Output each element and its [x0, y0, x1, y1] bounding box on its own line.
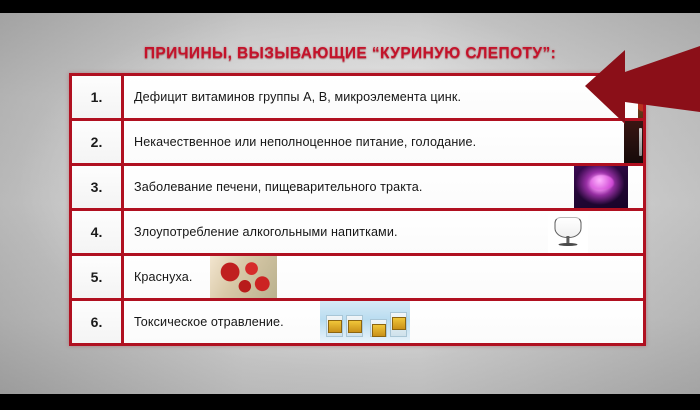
row-number: 5. — [72, 256, 124, 298]
row-content: Заболевание печени, пищеварительного тра… — [124, 166, 643, 208]
row-label: Заболевание печени, пищеварительного тра… — [134, 180, 422, 194]
row-content: Дефицит витаминов группы А, В, микроэлем… — [124, 76, 643, 118]
row-content: Некачественное или неполноценное питание… — [124, 121, 643, 163]
row-number: 2. — [72, 121, 124, 163]
liver-scan-photo — [574, 166, 628, 208]
liver-shape — [590, 175, 614, 189]
table-row: 2. Некачественное или неполноценное пита… — [72, 121, 643, 166]
row-content: Токсическое отравление. — [124, 301, 643, 343]
row-label: Злоупотребление алкогольными напитками. — [134, 225, 398, 239]
table-row: 6. Токсическое отравление. — [72, 301, 643, 343]
causes-table: 1. Дефицит витаминов группы А, В, микроэ… — [69, 73, 646, 346]
table-row: 4. Злоупотребление алкогольными напиткам… — [72, 211, 643, 256]
row-label: Дефицит витаминов группы А, В, микроэлем… — [134, 90, 461, 104]
red-left-arrow-icon — [585, 46, 700, 124]
row-number: 6. — [72, 301, 124, 343]
bottle-icon — [370, 319, 387, 337]
row-number: 1. — [72, 76, 124, 118]
letterbox-bottom — [0, 394, 700, 410]
table-row: 1. Дефицит витаминов группы А, В, микроэ… — [72, 76, 643, 121]
row-label: Токсическое отравление. — [134, 315, 284, 329]
row-number: 4. — [72, 211, 124, 253]
row-content: Краснуха. — [124, 256, 643, 298]
letterbox-top — [0, 0, 700, 13]
empty-plate-photo — [624, 121, 643, 163]
fork-icon — [639, 128, 642, 156]
row-content: Злоупотребление алкогольными напитками. — [124, 211, 643, 253]
row-number: 3. — [72, 166, 124, 208]
bottle-icon — [390, 312, 407, 337]
row-label: Краснуха. — [134, 270, 192, 284]
table-row: 5. Краснуха. — [72, 256, 643, 301]
rubella-virus-photo — [210, 256, 277, 298]
glass-foot — [559, 243, 578, 246]
brandy-glass-photo — [548, 211, 588, 253]
bottle-icon — [326, 315, 343, 337]
table-row: 3. Заболевание печени, пищеварительного … — [72, 166, 643, 211]
chemical-bottles-photo — [320, 301, 410, 343]
bottle-icon — [346, 315, 363, 337]
slide-screenshot: ПРИЧИНЫ, ВЫЗЫВАЮЩИЕ “КУРИНУЮ СЛЕПОТУ”: 1… — [0, 0, 700, 410]
glass-bowl — [555, 217, 582, 238]
row-label: Некачественное или неполноценное питание… — [134, 135, 476, 149]
